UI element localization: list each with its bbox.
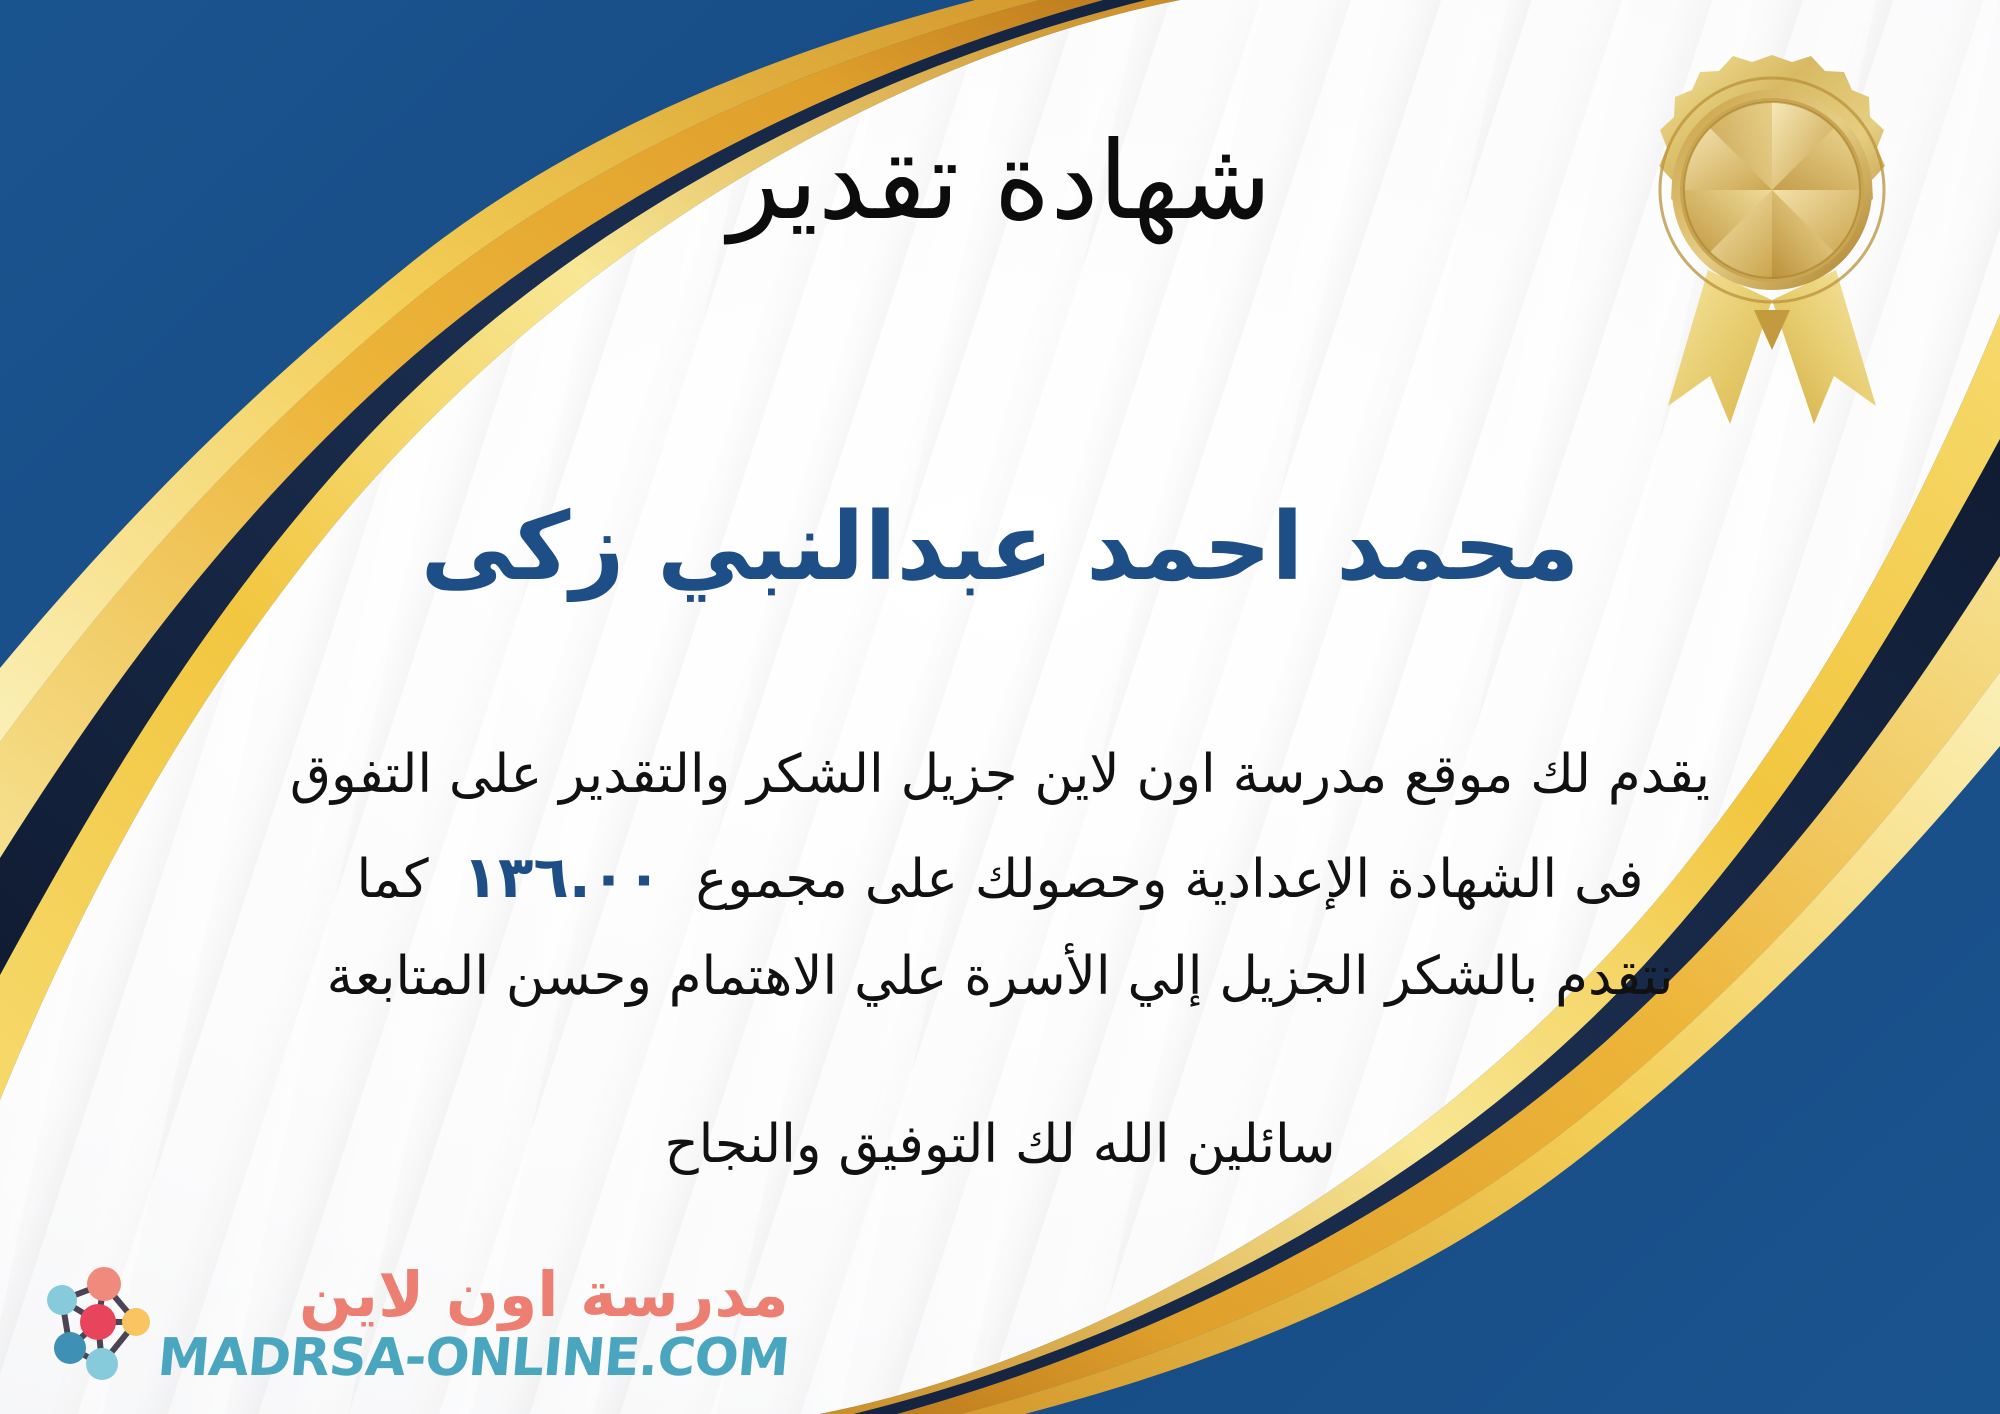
- node-yellow: [122, 1308, 150, 1336]
- closing-line: سائلين الله لك التوفيق والنجاح: [0, 1105, 2000, 1185]
- network-nodes-icon: [26, 1260, 154, 1388]
- node-lightblue: [47, 1285, 77, 1315]
- node-coral: [87, 1267, 121, 1301]
- node-teal: [54, 1332, 86, 1364]
- body-line-2: فى الشهادة الإعدادية وحصولك على مجموع١٣٦…: [55, 826, 1945, 929]
- certificate-canvas: شهادة تقدير محمد احمد عبدالنبي زكى يقدم …: [0, 0, 2000, 1414]
- certificate-body: يقدم لك موقع مدرسة اون لاين جزيل الشكر و…: [55, 728, 1945, 1024]
- recipient-name: محمد احمد عبدالنبي زكى: [0, 492, 2000, 605]
- brand-text-group: مدرسة اون لاين MADRSA-ONLINE.COM: [158, 1264, 789, 1384]
- certificate-content: شهادة تقدير محمد احمد عبدالنبي زكى يقدم …: [0, 0, 2000, 1414]
- brand-name-arabic: مدرسة اون لاين: [158, 1264, 789, 1326]
- body-line-3: نتقدم بالشكر الجزيل إلي الأسرة علي الاهت…: [55, 930, 1945, 1024]
- node-red: [80, 1304, 116, 1340]
- grade-total-value: ١٣٦.٠٠: [429, 843, 696, 911]
- node-cyan: [86, 1348, 118, 1380]
- body-line-1: يقدم لك موقع مدرسة اون لاين جزيل الشكر و…: [55, 728, 1945, 822]
- brand-website: MADRSA-ONLINE.COM: [156, 1332, 791, 1384]
- body-line-2-suffix: كما: [357, 849, 429, 910]
- body-line-2-prefix: فى الشهادة الإعدادية وحصولك على مجموع: [696, 849, 1644, 910]
- page-title: شهادة تقدير: [0, 118, 2000, 245]
- brand-logo[interactable]: مدرسة اون لاين MADRSA-ONLINE.COM: [26, 1260, 789, 1388]
